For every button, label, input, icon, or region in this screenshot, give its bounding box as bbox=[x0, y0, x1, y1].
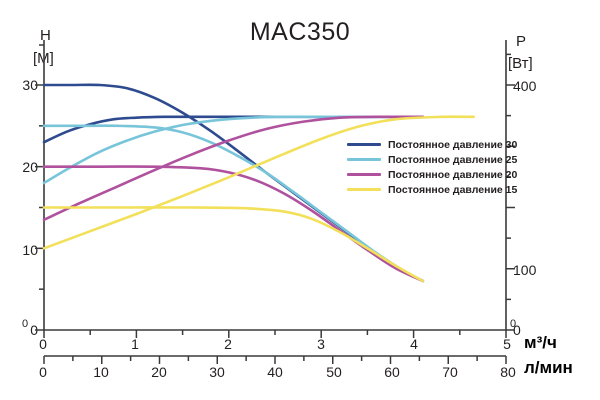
legend-item-0[interactable]: Постоянное давление 30 bbox=[347, 138, 517, 151]
legend-item-2[interactable]: Постоянное давление 20 bbox=[347, 168, 517, 181]
legend: Постоянное давление 30 Постоянное давлен… bbox=[347, 138, 517, 198]
plot-area bbox=[0, 0, 600, 400]
legend-swatch-1 bbox=[347, 158, 381, 161]
legend-label-3: Постоянное давление 15 bbox=[388, 184, 517, 196]
legend-swatch-0 bbox=[347, 143, 381, 146]
legend-label-1: Постоянное давление 25 bbox=[388, 154, 517, 166]
legend-label-0: Постоянное давление 30 bbox=[388, 139, 517, 151]
axis-ticks bbox=[35, 45, 515, 364]
legend-item-1[interactable]: Постоянное давление 25 bbox=[347, 153, 517, 166]
legend-item-3[interactable]: Постоянное давление 15 bbox=[347, 183, 517, 196]
legend-swatch-2 bbox=[347, 173, 381, 176]
pump-performance-chart: MAC350 H [M] P [Вт] м³/ч л/мин 30 20 10 … bbox=[0, 0, 600, 400]
legend-label-2: Постоянное давление 20 bbox=[388, 169, 517, 181]
legend-swatch-3 bbox=[347, 188, 381, 191]
